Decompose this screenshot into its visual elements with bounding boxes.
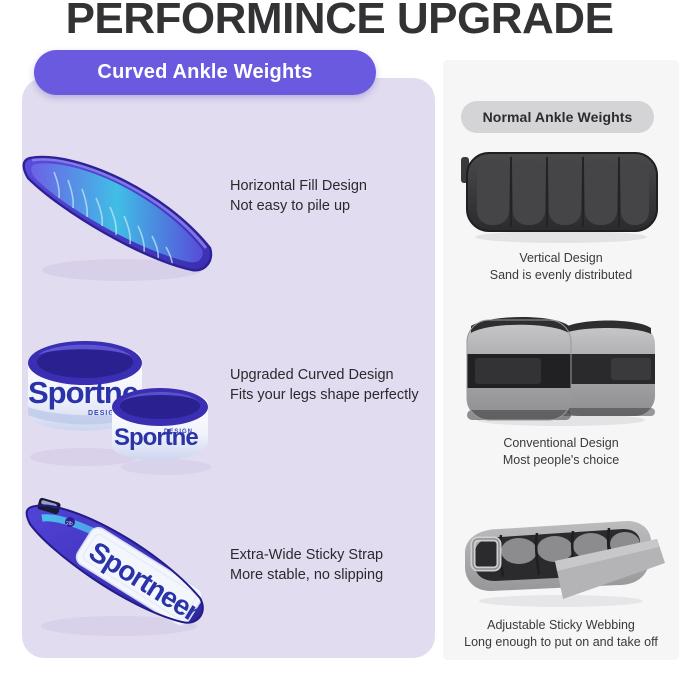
infographic-canvas: PERFORMINCE UPGRADE Curved Ankle Weights… [0,0,679,678]
right-feature-3-line1: Adjustable Sticky Webbing [443,617,679,634]
left-feature-3-line1: Extra-Wide Sticky Strap [230,545,435,565]
right-feature-2-line2: Most people's choice [443,452,679,469]
right-feature-3-line2: Long enough to put on and take off [443,634,679,651]
left-feature-2-caption: Upgraded Curved Design Fits your legs sh… [230,365,435,405]
svg-text:DESIGN: DESIGN [164,429,193,435]
left-feature-1-line1: Horizontal Fill Design [230,176,435,196]
left-feature-row-3: 2lb Sportneer Extra-Wide Sticky Strap Mo… [0,480,435,655]
gray-cylindrical-cuff-pair-image [451,310,671,430]
right-feature-1-caption: Vertical Design Sand is evenly distribut… [443,250,679,284]
left-feature-1-caption: Horizontal Fill Design Not easy to pile … [230,176,435,216]
right-feature-2-line1: Conventional Design [443,435,679,452]
page-title: PERFORMINCE UPGRADE [0,0,679,44]
sportneer-cuff-pair-image: Sportne DESIGN Sportne DESIGN [14,315,224,490]
left-feature-row-2: Sportne DESIGN Sportne DESIGN Upgraded C… [0,315,435,490]
gray-webbing-strap-weight-image [451,505,671,610]
left-feature-2-line1: Upgraded Curved Design [230,365,435,385]
right-feature-1-line1: Vertical Design [443,250,679,267]
black-vertical-chamber-weight-image [451,145,671,245]
svg-text:2lb: 2lb [66,521,73,527]
left-feature-2-line2: Fits your legs shape perfectly [230,385,435,405]
left-feature-3-caption: Extra-Wide Sticky Strap More stable, no … [230,545,435,585]
left-feature-1-line2: Not easy to pile up [230,196,435,216]
curved-purple-ankle-weight-image [14,120,224,295]
left-feature-row-1: Horizontal Fill Design Not easy to pile … [0,120,435,295]
badge-normal-ankle-weights: Normal Ankle Weights [461,101,654,133]
badge-curved-ankle-weights: Curved Ankle Weights [34,50,376,95]
right-feature-row-2: Conventional Design Most people's choice [443,310,679,480]
right-feature-row-3: Adjustable Sticky Webbing Long enough to… [443,505,679,665]
left-feature-3-line2: More stable, no slipping [230,565,435,585]
right-feature-3-caption: Adjustable Sticky Webbing Long enough to… [443,617,679,651]
sportneer-wide-strap-weight-image: 2lb Sportneer [14,480,224,655]
right-feature-1-line2: Sand is evenly distributed [443,267,679,284]
right-feature-row-1: Vertical Design Sand is evenly distribut… [443,145,679,295]
right-feature-2-caption: Conventional Design Most people's choice [443,435,679,469]
